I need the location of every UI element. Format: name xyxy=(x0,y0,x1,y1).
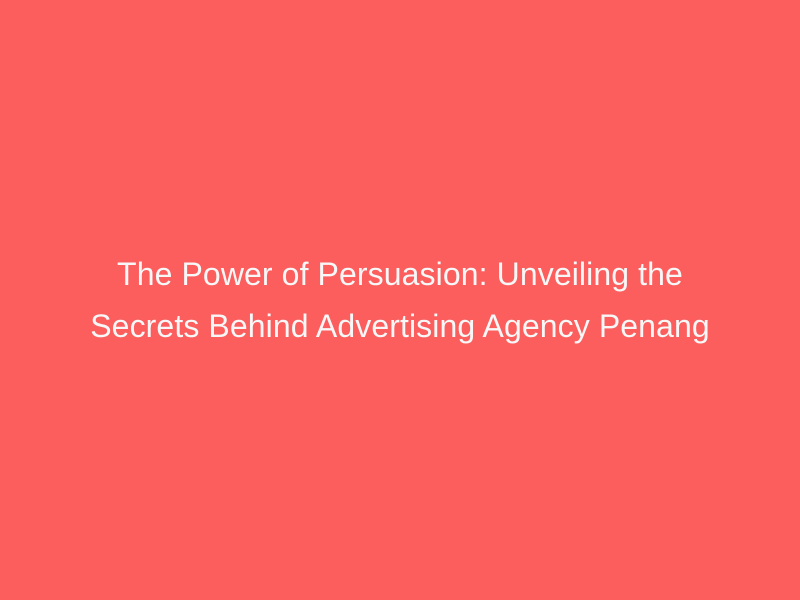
title-block: The Power of Persuasion: Unveiling the S… xyxy=(50,248,750,352)
placeholder-card: The Power of Persuasion: Unveiling the S… xyxy=(0,0,800,600)
page-title: The Power of Persuasion: Unveiling the S… xyxy=(70,248,730,352)
